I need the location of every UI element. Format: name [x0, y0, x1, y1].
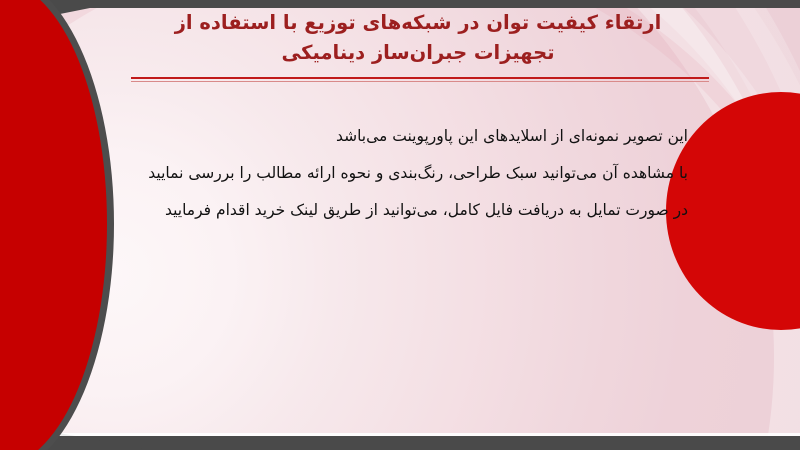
slide-canvas: ارتقاء کیفیت توان در شبکه‌های توزیع با ا… [0, 0, 800, 450]
body-line-1: این تصویر نمونه‌ای از اسلایدهای این پاور… [128, 118, 688, 155]
title-line-1: ارتقاء کیفیت توان در شبکه‌های توزیع با ا… [120, 8, 716, 38]
title-line-2: تجهیزات جبران‌ساز دینامیکی [120, 38, 716, 68]
title-underline-rule [131, 77, 709, 79]
body-line-2: با مشاهده آن می‌توانید سبک طراحی، رنگ‌بن… [128, 155, 688, 192]
title-underline-rule-shadow [131, 81, 709, 82]
panel-bottom-seam [0, 433, 800, 436]
body-line-3: در صورت تمایل به دریافت فایل کامل، می‌تو… [128, 192, 688, 229]
slide-body-text: این تصویر نمونه‌ای از اسلایدهای این پاور… [128, 118, 688, 229]
slide-title: ارتقاء کیفیت توان در شبکه‌های توزیع با ا… [120, 8, 716, 68]
